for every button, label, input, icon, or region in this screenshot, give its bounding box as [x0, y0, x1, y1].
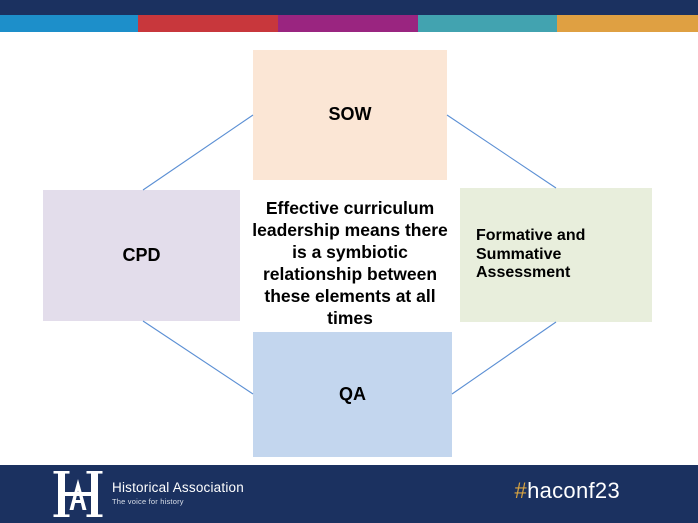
diagram-node-qa[interactable]: QA — [253, 332, 452, 457]
diagram-node-cpd[interactable]: CPD — [43, 190, 240, 321]
historical-association-logo: Historical Association The voice for his… — [52, 470, 244, 518]
color-strip-segment-red — [138, 15, 278, 32]
logo-title: Historical Association — [112, 481, 244, 496]
connector-cpd-sow — [143, 115, 253, 190]
connector-cpd-qa — [143, 321, 253, 394]
color-strip-segment-purple — [278, 15, 418, 32]
diagram-center-statement: Effective curriculum leadership means th… — [243, 196, 457, 330]
diagram-center-statement-text: Effective curriculum leadership means th… — [243, 197, 457, 329]
brand-color-strip — [0, 15, 698, 32]
ha-monogram-icon — [52, 470, 106, 518]
diagram-node-qa-label: QA — [339, 384, 366, 405]
diagram-node-assessment[interactable]: Formative and Summative Assessment — [460, 188, 652, 322]
diagram-node-sow-label: SOW — [329, 104, 372, 125]
connector-qa-assessment — [452, 322, 556, 394]
diagram-node-cpd-label: CPD — [122, 245, 160, 266]
diagram-node-assessment-label: Formative and Summative Assessment — [476, 227, 644, 284]
slide-canvas: SOW CPD Formative and Summative Assessme… — [0, 0, 698, 523]
color-strip-segment-teal — [418, 15, 557, 32]
hashtag-symbol: # — [515, 478, 528, 503]
color-strip-segment-blue — [0, 15, 138, 32]
conference-hashtag: #haconf23 — [515, 478, 620, 504]
hashtag-text: haconf23 — [527, 478, 620, 503]
logo-text-block: Historical Association The voice for his… — [112, 481, 244, 506]
logo-tagline: The voice for history — [112, 498, 244, 506]
connector-sow-assessment — [447, 115, 556, 188]
top-navy-band — [0, 0, 698, 15]
diagram-node-sow[interactable]: SOW — [253, 50, 447, 180]
color-strip-segment-gold — [557, 15, 698, 32]
